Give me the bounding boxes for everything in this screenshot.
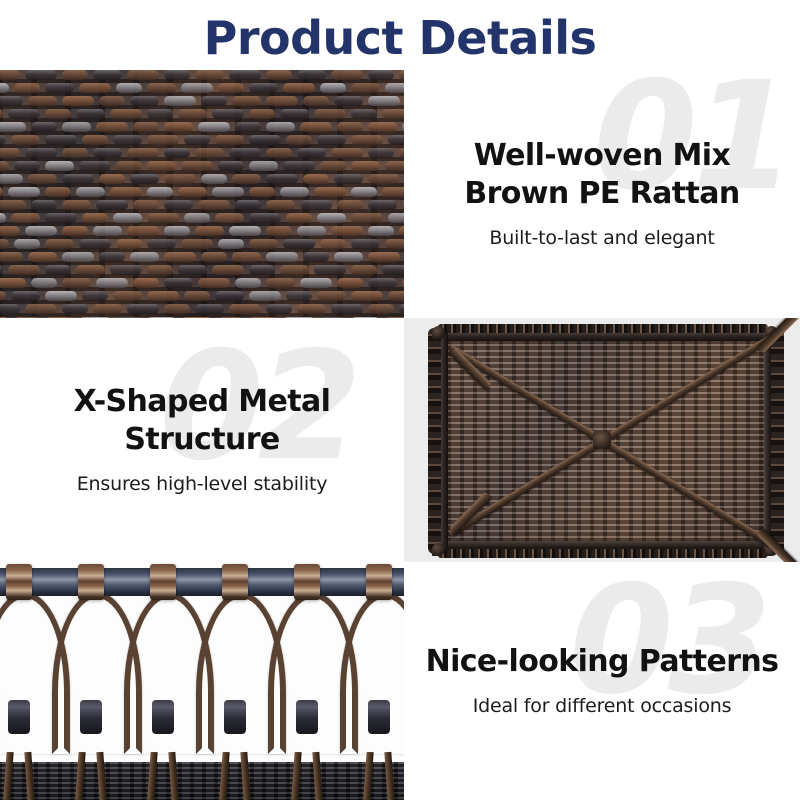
weave-strand	[201, 252, 227, 262]
weave-strand	[45, 187, 71, 197]
scallop-trim-right	[771, 328, 784, 554]
weave-strand	[0, 148, 20, 158]
weave-strand	[181, 83, 213, 93]
weave-strand	[266, 278, 295, 288]
weave-strand	[320, 239, 346, 249]
weave-strand	[96, 278, 128, 288]
weave-strand	[8, 109, 40, 119]
weave-strand	[297, 304, 326, 314]
weave-strand	[300, 200, 332, 210]
weave-strand	[0, 96, 23, 106]
weave-strand	[164, 148, 190, 158]
weave-strand	[110, 265, 142, 275]
weave-strand	[0, 213, 6, 223]
weave-strand	[164, 226, 190, 236]
weave-strand	[0, 252, 23, 262]
weave-strand	[96, 122, 128, 132]
weave-strand	[116, 83, 142, 93]
weave-strand	[31, 200, 57, 210]
weave-strand	[212, 109, 244, 119]
weave-strand	[45, 213, 77, 223]
weave-strand	[283, 239, 315, 249]
weave-strand	[229, 304, 261, 314]
weave-row	[0, 161, 404, 171]
weave-strand	[218, 83, 244, 93]
weave-strand	[351, 109, 377, 119]
weave-strand	[45, 135, 77, 145]
weave-strand	[0, 265, 3, 275]
rail-rattan-wrap	[150, 564, 176, 600]
weave-strand	[212, 187, 244, 197]
corner-nub-bottom-left	[432, 543, 445, 556]
weave-row	[0, 265, 404, 275]
weave-strand	[388, 213, 404, 223]
feature-block-03: 03 Nice-looking Patterns Ideal for diffe…	[404, 562, 800, 800]
weave-strand	[351, 213, 383, 223]
weave-strand	[0, 109, 3, 119]
weave-strand	[297, 148, 326, 158]
weave-strand	[232, 96, 261, 106]
weave-strand	[93, 304, 122, 314]
weave-strand	[127, 304, 159, 314]
weave-strand	[0, 122, 26, 132]
arch-binding-band	[296, 700, 318, 734]
weave-strand	[249, 213, 281, 223]
weave-strand	[11, 291, 40, 301]
weave-strand	[249, 109, 275, 119]
arch-binding-band	[80, 700, 102, 734]
weave-strand	[127, 148, 159, 158]
weave-strand	[351, 265, 377, 275]
weave-strand	[320, 161, 346, 171]
weave-strand	[96, 200, 128, 210]
rail-rattan-wrap	[6, 564, 32, 600]
weave-strand	[368, 96, 400, 106]
weave-strand	[62, 174, 94, 184]
weave-strand	[337, 122, 363, 132]
weave-row	[0, 200, 404, 210]
weave-strand	[266, 70, 292, 80]
weave-strand	[382, 265, 404, 275]
weave-strand	[0, 135, 6, 145]
weave-strand	[62, 226, 88, 236]
weave-strand	[147, 291, 179, 301]
weave-strand	[286, 291, 312, 301]
frame-rail-top	[440, 332, 764, 341]
weave-strand	[93, 70, 122, 80]
weave-strand	[45, 265, 71, 275]
weave-strand	[215, 135, 244, 145]
weave-strand	[232, 174, 261, 184]
weave-strand	[14, 83, 40, 93]
weave-strand	[351, 135, 383, 145]
weave-strand	[201, 174, 227, 184]
weave-strand	[331, 70, 363, 80]
x-center-hub	[593, 431, 611, 449]
weave-strand	[25, 304, 57, 314]
corner-nub-top-left	[432, 326, 445, 339]
weave-strand	[286, 135, 312, 145]
weave-strand	[25, 226, 57, 236]
weave-strand	[14, 239, 40, 249]
weave-strand	[331, 304, 363, 314]
weave-strand	[82, 291, 108, 301]
weave-strand	[368, 200, 397, 210]
weave-strand	[76, 265, 105, 275]
weave-strand	[229, 70, 261, 80]
weave-strand	[62, 278, 91, 288]
weave-strand	[314, 265, 346, 275]
weave-strand	[110, 109, 142, 119]
weave-strand	[164, 200, 193, 210]
weave-strand	[215, 213, 244, 223]
weave-strand	[11, 213, 40, 223]
weave-strand	[130, 96, 159, 106]
product-details-infographic: Product Details 01 Well-woven Mix Brown …	[0, 0, 800, 800]
weave-strand	[334, 96, 363, 106]
weave-strand	[0, 226, 20, 236]
weave-row	[0, 252, 404, 262]
arch-binding-band	[152, 700, 174, 734]
weave-strand	[76, 187, 105, 197]
weave-strand	[110, 187, 142, 197]
weave-strand	[25, 148, 57, 158]
weave-pattern	[0, 70, 404, 318]
weave-strand	[303, 174, 329, 184]
weave-strand	[178, 109, 207, 119]
weave-row	[0, 278, 404, 288]
weave-strand	[331, 226, 363, 236]
arched-loop-pattern-photo	[0, 562, 404, 800]
weave-strand	[249, 135, 281, 145]
arch-binding-band	[224, 700, 246, 734]
weave-row	[0, 122, 404, 132]
weave-strand	[164, 174, 196, 184]
weave-row	[0, 135, 404, 145]
weave-strand	[266, 304, 292, 314]
weave-strand	[388, 291, 404, 301]
weave-strand	[215, 291, 244, 301]
weave-strand	[229, 148, 261, 158]
weave-strand	[232, 252, 261, 262]
weave-strand	[297, 226, 326, 236]
weave-strand	[93, 226, 122, 236]
rail-rattan-wrap	[294, 564, 320, 600]
top-rail-bar	[0, 568, 404, 596]
weave-strand	[300, 278, 332, 288]
weave-strand	[280, 187, 309, 197]
weave-strand	[195, 148, 224, 158]
weave-strand	[195, 226, 224, 236]
weave-strand	[314, 109, 346, 119]
weave-strand	[62, 148, 88, 158]
weave-strand	[184, 291, 210, 301]
weave-strand	[147, 187, 173, 197]
weave-strand	[0, 278, 26, 288]
weave-strand	[62, 70, 88, 80]
weave-strand	[113, 213, 142, 223]
weave-strand	[164, 252, 196, 262]
weave-strand	[368, 278, 397, 288]
weave-strand	[198, 200, 230, 210]
page-title: Product Details	[0, 8, 800, 68]
weave-strand	[164, 304, 190, 314]
weave-strand	[28, 96, 57, 106]
weave-strand	[127, 70, 159, 80]
weave-strand	[147, 83, 176, 93]
weave-strand	[11, 135, 40, 145]
weave-strand	[99, 174, 125, 184]
weave-strand	[79, 239, 111, 249]
weave-strand	[314, 187, 346, 197]
weave-strand	[133, 200, 159, 210]
weave-strand	[388, 135, 404, 145]
weave-strand	[14, 161, 40, 171]
weave-strand	[178, 187, 207, 197]
weave-strand	[249, 291, 281, 301]
rail-teeth-bottom	[438, 549, 768, 558]
weave-strand	[334, 252, 363, 262]
weave-strand	[382, 109, 404, 119]
weave-strand	[266, 148, 292, 158]
weave-strand	[368, 122, 397, 132]
weave-strand	[45, 83, 74, 93]
weave-strand	[76, 109, 105, 119]
feature-block-01: 01 Well-woven Mix Brown PE Rattan Built-…	[404, 70, 800, 318]
weave-strand	[164, 278, 193, 288]
weave-strand	[351, 291, 383, 301]
weave-strand	[181, 161, 213, 171]
weave-strand	[337, 200, 363, 210]
weave-strand	[62, 304, 88, 314]
weave-strand	[249, 187, 275, 197]
weave-strand	[147, 109, 173, 119]
weave-strand	[229, 226, 261, 236]
weave-strand	[201, 96, 227, 106]
weave-strand	[0, 200, 26, 210]
weave-strand	[266, 96, 298, 106]
weave-strand	[82, 213, 108, 223]
weave-strand	[385, 239, 404, 249]
arch-binding-band	[368, 700, 390, 734]
weave-row	[0, 304, 404, 314]
weave-strand	[266, 226, 292, 236]
weave-strand	[198, 278, 230, 288]
weave-strand	[0, 304, 20, 314]
weave-strand	[334, 174, 363, 184]
weave-strand	[351, 83, 380, 93]
weave-strand	[79, 161, 111, 171]
weave-strand	[147, 135, 179, 145]
weave-row	[0, 239, 404, 249]
weave-strand	[0, 239, 9, 249]
weave-strand	[0, 161, 9, 171]
weave-strand	[303, 252, 329, 262]
weave-strand	[266, 252, 298, 262]
weave-strand	[368, 148, 394, 158]
weave-row	[0, 213, 404, 223]
frame-rail-left	[440, 332, 448, 550]
weave-strand	[184, 213, 210, 223]
weave-strand	[212, 265, 244, 275]
weave-strand	[283, 161, 315, 171]
weave-strand	[62, 122, 91, 132]
weave-strand	[368, 252, 400, 262]
weave-strand	[198, 122, 230, 132]
weave-strand	[382, 187, 404, 197]
weave-strand	[368, 226, 394, 236]
weave-strand	[99, 252, 125, 262]
weave-strand	[385, 83, 404, 93]
weave-strand	[249, 161, 278, 171]
weave-strand	[266, 200, 295, 210]
weave-row	[0, 174, 404, 184]
weave-strand	[130, 174, 159, 184]
weave-strand	[147, 265, 173, 275]
weave-strand	[368, 304, 394, 314]
weave-strand	[195, 70, 224, 80]
weave-strand	[79, 83, 111, 93]
weave-strand	[147, 239, 176, 249]
feature-block-02: 02 X-Shaped Metal Structure Ensures high…	[0, 318, 404, 562]
weave-strand	[28, 174, 57, 184]
arch-binding-band	[8, 700, 30, 734]
weave-strand	[31, 278, 57, 288]
weave-strand	[164, 122, 193, 132]
weave-strand	[300, 122, 332, 132]
weave-strand	[93, 148, 122, 158]
weave-strand	[218, 161, 244, 171]
weave-strand	[116, 239, 142, 249]
feature-headline-01: Well-woven Mix Brown PE Rattan	[464, 137, 739, 213]
weave-strand	[286, 213, 312, 223]
weave-strand	[337, 278, 363, 288]
weave-strand	[181, 239, 213, 249]
weave-strand	[320, 83, 346, 93]
weave-strand	[195, 304, 224, 314]
weave-strand	[45, 161, 74, 171]
weave-strand	[0, 174, 23, 184]
weave-strand	[351, 187, 377, 197]
feature-headline-02: X-Shaped Metal Structure	[74, 383, 331, 459]
weave-strand	[297, 70, 326, 80]
weave-strand	[249, 83, 278, 93]
weave-strand	[266, 174, 298, 184]
weave-strand	[368, 174, 400, 184]
rail-teeth-top	[438, 324, 768, 333]
weave-strand	[351, 161, 380, 171]
weave-row	[0, 109, 404, 119]
weave-strand	[280, 265, 309, 275]
feature-subline-03: Ideal for different occasions	[473, 693, 732, 719]
rail-rattan-wrap	[366, 564, 392, 600]
weave-strand	[8, 187, 40, 197]
weave-row	[0, 70, 404, 80]
weave-strand	[25, 70, 57, 80]
weave-strand	[113, 135, 142, 145]
rail-rattan-wrap	[222, 564, 248, 600]
weave-strand	[218, 239, 244, 249]
weave-strand	[0, 70, 20, 80]
weave-strand	[31, 122, 57, 132]
weave-strand	[133, 278, 159, 288]
weave-strand	[8, 265, 40, 275]
feature-subline-02: Ensures high-level stability	[77, 471, 328, 497]
weave-strand	[0, 83, 9, 93]
weave-strand	[249, 265, 275, 275]
weave-strand	[133, 122, 159, 132]
weave-strand	[0, 187, 3, 197]
rail-rattan-wrap	[78, 564, 104, 600]
weave-strand	[113, 291, 142, 301]
weave-strand	[82, 135, 108, 145]
weave-strand	[99, 96, 125, 106]
feature-subline-01: Built-to-last and elegant	[489, 225, 714, 251]
weave-strand	[164, 96, 196, 106]
weave-strand	[178, 265, 207, 275]
weave-row	[0, 83, 404, 93]
weave-strand	[45, 239, 74, 249]
weave-strand	[235, 200, 261, 210]
weave-strand	[184, 135, 210, 145]
weave-strand	[317, 213, 346, 223]
weave-strand	[385, 161, 404, 171]
weave-strand	[127, 226, 159, 236]
woven-floor-mat	[0, 762, 404, 800]
weave-strand	[317, 291, 346, 301]
scallop-trim-left	[428, 328, 441, 554]
weave-strand	[45, 291, 77, 301]
weave-strand	[235, 122, 261, 132]
x-shaped-metal-frame-photo	[404, 318, 800, 562]
rattan-weave-closeup-photo	[0, 70, 404, 318]
weave-strand	[249, 239, 278, 249]
weave-strand	[62, 252, 94, 262]
weave-strand	[62, 96, 94, 106]
weave-strand	[164, 70, 190, 80]
weave-strand	[62, 200, 91, 210]
weave-strand	[147, 161, 176, 171]
weave-row	[0, 96, 404, 106]
weave-strand	[235, 278, 261, 288]
weave-strand	[28, 252, 57, 262]
weave-strand	[130, 252, 159, 262]
weave-strand	[283, 83, 315, 93]
weave-strand	[45, 109, 71, 119]
weave-row	[0, 187, 404, 197]
weave-strand	[331, 148, 363, 158]
weave-strand	[266, 122, 295, 132]
feature-headline-03: Nice-looking Patterns	[426, 643, 779, 681]
weave-strand	[368, 70, 394, 80]
weave-strand	[0, 291, 6, 301]
weave-strand	[147, 213, 179, 223]
weave-strand	[280, 109, 309, 119]
weave-row	[0, 148, 404, 158]
weave-strand	[303, 96, 329, 106]
weave-row	[0, 226, 404, 236]
weave-row	[0, 291, 404, 301]
weave-strand	[116, 161, 142, 171]
weave-strand	[317, 135, 346, 145]
weave-strand	[351, 239, 380, 249]
